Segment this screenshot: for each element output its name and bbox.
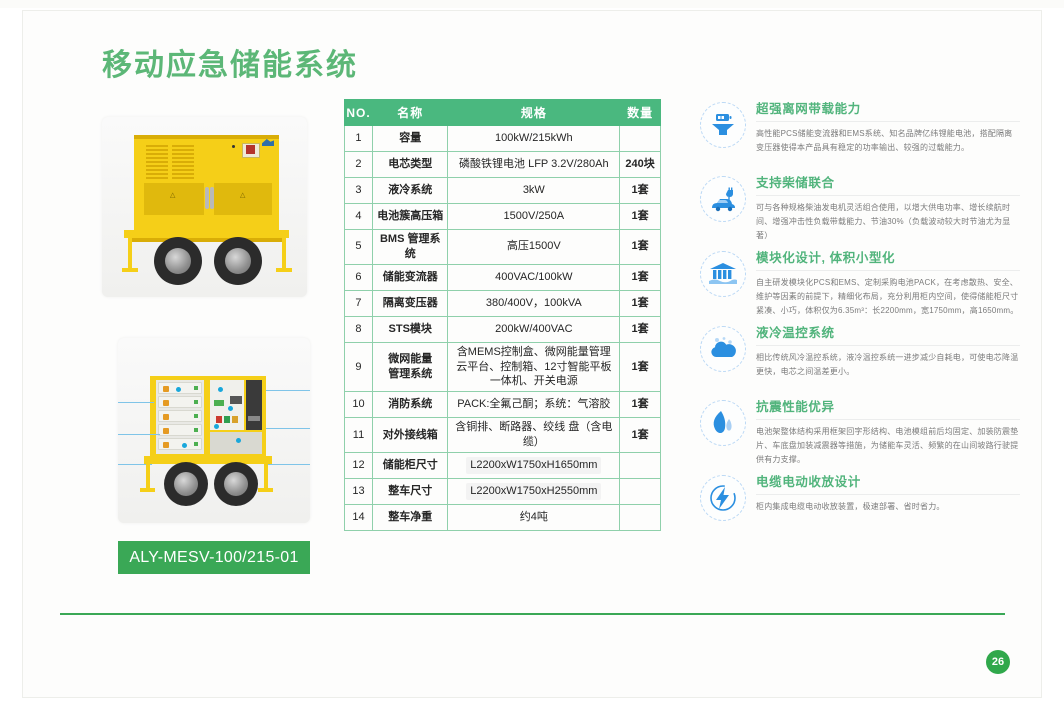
table-row: 2电芯类型磷酸铁锂电池 LFP 3.2V/280Ah240块	[345, 152, 661, 178]
table-row: 11对外接线箱含铜排、断路器、绞线 盘（含电缆）1套	[345, 418, 661, 453]
battery-transformer-icon	[700, 102, 746, 148]
column-header-name: 名称	[372, 100, 448, 126]
cell-spec: 约4吨	[448, 504, 620, 530]
cell-no: 2	[345, 152, 373, 178]
bottom-divider	[60, 613, 1005, 615]
feature-divider	[756, 195, 1020, 196]
cell-qty: 1套	[620, 418, 661, 453]
cell-no: 5	[345, 230, 373, 265]
feature-text: 电池架整体结构采用框架回字形结构、电池模组前后均固定、加装防震垫片、车底盘加装减…	[756, 425, 1020, 467]
model-badge: ALY-MESV-100/215-01	[118, 541, 310, 574]
cell-name: 电池簇高压箱	[372, 204, 448, 230]
cell-name: 整车尺寸	[372, 478, 448, 504]
cell-no: 11	[345, 418, 373, 453]
product-photo-closed: △ △	[102, 117, 307, 297]
module-rack-icon	[700, 251, 746, 297]
table-row: 10消防系统PACK:全氟己酮；系统：气溶胶1套	[345, 392, 661, 418]
feature-item: 电缆电动收放设计柜内集成电缆电动收放装置，极速部署、省时省力。	[700, 471, 1020, 541]
feature-title: 支持柴储联合	[756, 172, 1020, 191]
cell-qty: 1套	[620, 290, 661, 316]
feature-text: 可与各种规格柴油发电机灵活组合使用，以增大供电功率、增长续航时间、增强冲击性负载…	[756, 201, 1020, 243]
cell-qty: 1套	[620, 204, 661, 230]
column-header-spec: 规格	[448, 100, 620, 126]
cell-spec: 含铜排、断路器、绞线 盘（含电缆）	[448, 418, 620, 453]
feature-text: 相比传统风冷温控系统，液冷温控系统一进步减少自耗电，可使电芯降温更快，电芯之间温…	[756, 351, 1020, 379]
cell-name: 对外接线箱	[372, 418, 448, 453]
feature-title: 超强离网带载能力	[756, 98, 1020, 117]
cell-qty: 1套	[620, 264, 661, 290]
cell-spec: L2200xW1750xH2550mm	[448, 478, 620, 504]
cell-no: 7	[345, 290, 373, 316]
cell-qty: 1套	[620, 342, 661, 392]
cell-no: 12	[345, 452, 373, 478]
table-row: 6储能变流器400VAC/100kW1套	[345, 264, 661, 290]
feature-body: 液冷温控系统相比传统风冷温控系统，液冷温控系统一进步减少自耗电，可使电芯降温更快…	[756, 322, 1020, 379]
product-photo-open	[118, 338, 310, 523]
cell-qty	[620, 126, 661, 152]
cell-no: 3	[345, 178, 373, 204]
feature-divider	[756, 345, 1020, 346]
table-row: 1容量100kW/215kWh	[345, 126, 661, 152]
feature-title: 模块化设计, 体积小型化	[756, 247, 1020, 266]
cell-spec: 380/400V，100kVA	[448, 290, 620, 316]
feature-item: 支持柴储联合可与各种规格柴油发电机灵活组合使用，以增大供电功率、增长续航时间、增…	[700, 172, 1020, 243]
feature-body: 支持柴储联合可与各种规格柴油发电机灵活组合使用，以增大供电功率、增长续航时间、增…	[756, 172, 1020, 243]
feature-title: 抗震性能优异	[756, 396, 1020, 415]
feature-divider	[756, 494, 1020, 495]
cell-name: BMS 管理系统	[372, 230, 448, 265]
cell-name: 储能变流器	[372, 264, 448, 290]
feature-body: 电缆电动收放设计柜内集成电缆电动收放装置，极速部署、省时省力。	[756, 471, 1020, 514]
table-row: 8STS模块200kW/400VAC1套	[345, 316, 661, 342]
table-row: 9微网能量管理系统含MEMS控制盒、微网能量管理云平台、控制箱、12寸智能平板一…	[345, 342, 661, 392]
cell-spec-value: L2200xW1750xH1650mm	[466, 457, 601, 474]
specification-table: NO. 名称 规格 数量 1容量100kW/215kWh2电芯类型磷酸铁锂电池 …	[344, 99, 661, 531]
feature-list: 超强离网带载能力高性能PCS储能变流器和EMS系统、知名品牌亿纬锂能电池，搭配隔…	[700, 98, 1020, 545]
table-row: 12储能柜尺寸L2200xW1750xH1650mm	[345, 452, 661, 478]
lightning-bolt-icon	[700, 475, 746, 521]
cell-spec: L2200xW1750xH1650mm	[448, 452, 620, 478]
feature-divider	[756, 270, 1020, 271]
feature-text: 柜内集成电缆电动收放装置，极速部署、省时省力。	[756, 500, 1020, 514]
slide-canvas: 移动应急储能系统 △ △	[0, 0, 1064, 707]
table-row: 3液冷系统3kW1套	[345, 178, 661, 204]
feature-text: 高性能PCS储能变流器和EMS系统、知名品牌亿纬锂能电池，搭配隔离变压器使得本产…	[756, 127, 1020, 155]
feature-item: 超强离网带载能力高性能PCS储能变流器和EMS系统、知名品牌亿纬锂能电池，搭配隔…	[700, 98, 1020, 168]
cell-spec: PACK:全氟己酮；系统：气溶胶	[448, 392, 620, 418]
cell-spec: 400VAC/100kW	[448, 264, 620, 290]
table-row: 7隔离变压器380/400V，100kVA1套	[345, 290, 661, 316]
shock-leaf-icon	[700, 400, 746, 446]
cell-qty	[620, 504, 661, 530]
cell-no: 4	[345, 204, 373, 230]
cell-no: 8	[345, 316, 373, 342]
cell-spec: 100kW/215kWh	[448, 126, 620, 152]
cell-qty: 1套	[620, 178, 661, 204]
cell-spec: 1500V/250A	[448, 204, 620, 230]
cell-spec: 含MEMS控制盒、微网能量管理云平台、控制箱、12寸智能平板一体机、开关电源	[448, 342, 620, 392]
feature-item: 抗震性能优异电池架整体结构采用框架回字形结构、电池模组前后均固定、加装防震垫片、…	[700, 396, 1020, 467]
cell-spec: 3kW	[448, 178, 620, 204]
cell-qty: 1套	[620, 392, 661, 418]
cell-name: 隔离变压器	[372, 290, 448, 316]
cell-spec: 200kW/400VAC	[448, 316, 620, 342]
table-row: 4电池簇高压箱1500V/250A1套	[345, 204, 661, 230]
column-header-no: NO.	[345, 100, 373, 126]
electric-car-charging-icon	[700, 176, 746, 222]
feature-text: 自主研发模块化PCS和EMS、定制采购电池PACK，在考虑散热、安全、维护等因素…	[756, 276, 1020, 318]
table-row: 5BMS 管理系统高压1500V1套	[345, 230, 661, 265]
cell-no: 6	[345, 264, 373, 290]
cell-name: 电芯类型	[372, 152, 448, 178]
cell-name: 消防系统	[372, 392, 448, 418]
cell-qty: 240块	[620, 152, 661, 178]
cooling-cloud-icon	[700, 326, 746, 372]
feature-body: 抗震性能优异电池架整体结构采用框架回字形结构、电池模组前后均固定、加装防震垫片、…	[756, 396, 1020, 467]
top-band	[0, 0, 1064, 8]
cell-qty	[620, 452, 661, 478]
page-title: 移动应急储能系统	[102, 40, 358, 84]
table-header-row: NO. 名称 规格 数量	[345, 100, 661, 126]
cell-qty: 1套	[620, 316, 661, 342]
table-row: 14整车净重约4吨	[345, 504, 661, 530]
feature-divider	[756, 121, 1020, 122]
cell-name: 液冷系统	[372, 178, 448, 204]
cell-name: 容量	[372, 126, 448, 152]
cell-no: 10	[345, 392, 373, 418]
cell-spec: 磷酸铁锂电池 LFP 3.2V/280Ah	[448, 152, 620, 178]
feature-item: 模块化设计, 体积小型化自主研发模块化PCS和EMS、定制采购电池PACK，在考…	[700, 247, 1020, 318]
cell-no: 9	[345, 342, 373, 392]
cell-spec-value: L2200xW1750xH2550mm	[466, 483, 601, 500]
cell-no: 13	[345, 478, 373, 504]
feature-item: 液冷温控系统相比传统风冷温控系统，液冷温控系统一进步减少自耗电，可使电芯降温更快…	[700, 322, 1020, 392]
cell-no: 1	[345, 126, 373, 152]
feature-title: 电缆电动收放设计	[756, 471, 1020, 490]
cell-qty	[620, 478, 661, 504]
column-header-qty: 数量	[620, 100, 661, 126]
feature-title: 液冷温控系统	[756, 322, 1020, 341]
cell-name: STS模块	[372, 316, 448, 342]
feature-body: 超强离网带载能力高性能PCS储能变流器和EMS系统、知名品牌亿纬锂能电池，搭配隔…	[756, 98, 1020, 155]
cell-no: 14	[345, 504, 373, 530]
feature-body: 模块化设计, 体积小型化自主研发模块化PCS和EMS、定制采购电池PACK，在考…	[756, 247, 1020, 318]
cell-name: 微网能量管理系统	[372, 342, 448, 392]
feature-divider	[756, 419, 1020, 420]
cell-qty: 1套	[620, 230, 661, 265]
cell-spec: 高压1500V	[448, 230, 620, 265]
cell-name: 储能柜尺寸	[372, 452, 448, 478]
cell-name: 整车净重	[372, 504, 448, 530]
page-number-badge: 26	[986, 650, 1010, 674]
table-row: 13整车尺寸L2200xW1750xH2550mm	[345, 478, 661, 504]
